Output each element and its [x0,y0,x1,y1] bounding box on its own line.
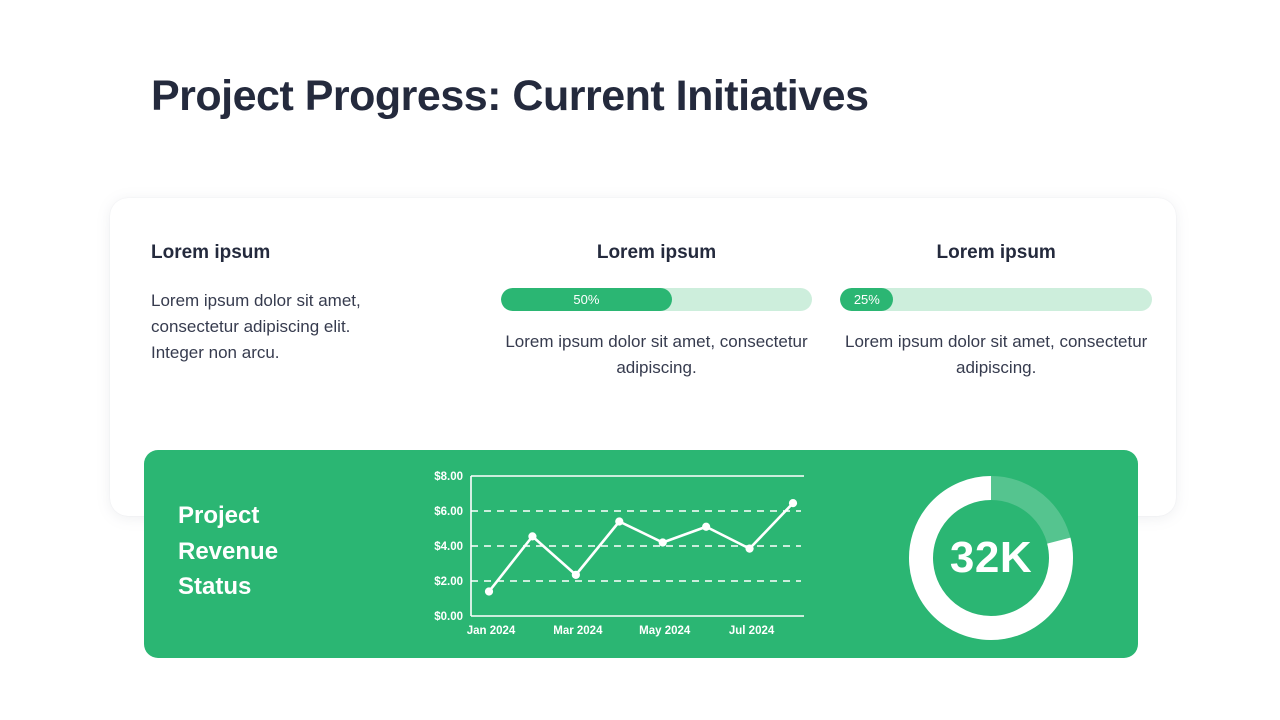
svg-text:Mar 2024: Mar 2024 [553,625,603,637]
column-3-body: Lorem ipsum dolor sit amet, consectetur … [840,329,1152,381]
svg-text:$6.00: $6.00 [434,506,463,518]
revenue-panel-title: Project Revenue Status [178,498,348,605]
donut-center-value: 32K [901,468,1081,648]
column-2-heading: Lorem ipsum [501,242,813,264]
svg-text:May 2024: May 2024 [639,625,691,637]
column-1-heading: Lorem ipsum [151,242,463,264]
progress-bar-2-fill: 50% [501,288,672,311]
column-3-heading: Lorem ipsum [840,242,1152,264]
svg-text:$4.00: $4.00 [434,541,463,553]
progress-bar-2[interactable]: 50% [501,288,813,311]
revenue-donut-chart: 32K [901,468,1081,648]
x-axis-tick-labels: Jan 2024Mar 2024May 2024Jul 2024 [467,625,775,637]
svg-text:Jan 2024: Jan 2024 [467,625,516,637]
revenue-line-chart: $0.00$2.00$4.00$6.00$8.00 Jan 2024Mar 20… [409,462,804,657]
progress-bar-2-label: 50% [573,293,599,306]
line-chart-svg: $0.00$2.00$4.00$6.00$8.00 Jan 2024Mar 20… [409,462,804,657]
y-axis-tick-labels: $0.00$2.00$4.00$6.00$8.00 [434,471,463,623]
column-1-body: Lorem ipsum dolor sit amet, consectetur … [151,288,403,365]
progress-bar-3[interactable]: 25% [840,288,1152,311]
svg-text:$8.00: $8.00 [434,471,463,483]
svg-text:$2.00: $2.00 [434,576,463,588]
progress-bar-3-label: 25% [854,293,880,306]
revenue-panel: Project Revenue Status $0.00$2.00$4.00$6… [144,450,1138,658]
page-title: Project Progress: Current Initiatives [151,72,869,121]
column-2-body: Lorem ipsum dolor sit amet, consectetur … [501,329,813,381]
svg-text:Jul 2024: Jul 2024 [729,625,775,637]
progress-bar-3-fill: 25% [840,288,893,311]
svg-text:$0.00: $0.00 [434,611,463,623]
